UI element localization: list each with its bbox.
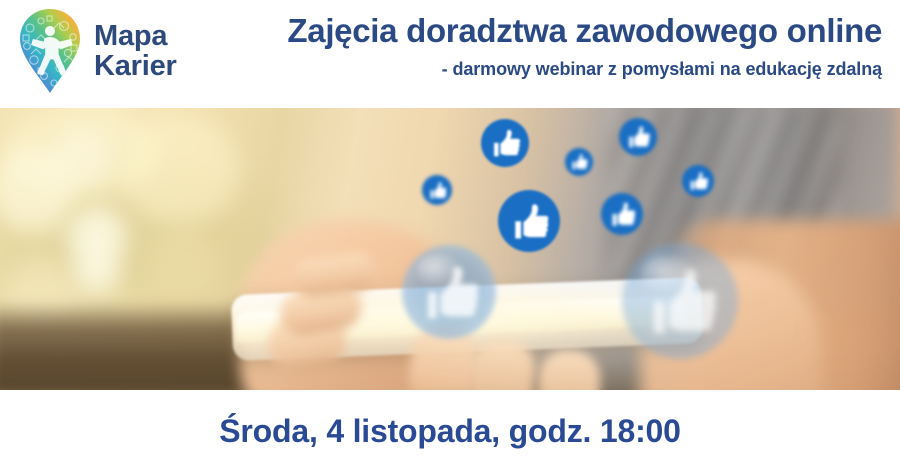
hero-photo — [0, 108, 900, 390]
webinar-promo-banner: Mapa Karier Zajęcia doradztwa zawodowego… — [0, 0, 900, 471]
page-subtitle: - darmowy webinar z pomysłami na edukacj… — [192, 59, 882, 81]
thumbs-up-icon-7 — [601, 193, 643, 235]
page-title: Zajęcia doradztwa zawodowego online — [192, 12, 882, 50]
header-text-block: Zajęcia doradztwa zawodowego online - da… — [192, 12, 882, 81]
thumbs-up-icon-5 — [682, 165, 714, 197]
event-date-time: Środa, 4 listopada, godz. 18:00 — [219, 415, 680, 447]
banner-header: Mapa Karier Zajęcia doradztwa zawodowego… — [0, 0, 900, 108]
map-pin-mosaic-icon — [14, 6, 86, 96]
brand-name: Mapa Karier — [94, 20, 177, 81]
thumbs-up-icon-1 — [422, 175, 452, 205]
brand-logo[interactable]: Mapa Karier — [14, 6, 177, 96]
thumbs-up-bubble-right — [622, 243, 738, 359]
thumbs-up-icon-4 — [619, 118, 657, 156]
thumbs-up-icon-2 — [481, 119, 529, 167]
thumbs-up-icon-6 — [498, 190, 560, 252]
banner-footer: Środa, 4 listopada, godz. 18:00 — [0, 390, 900, 471]
thumbs-up-bubble-left — [402, 245, 496, 339]
thumbs-up-icon-3 — [565, 148, 593, 176]
